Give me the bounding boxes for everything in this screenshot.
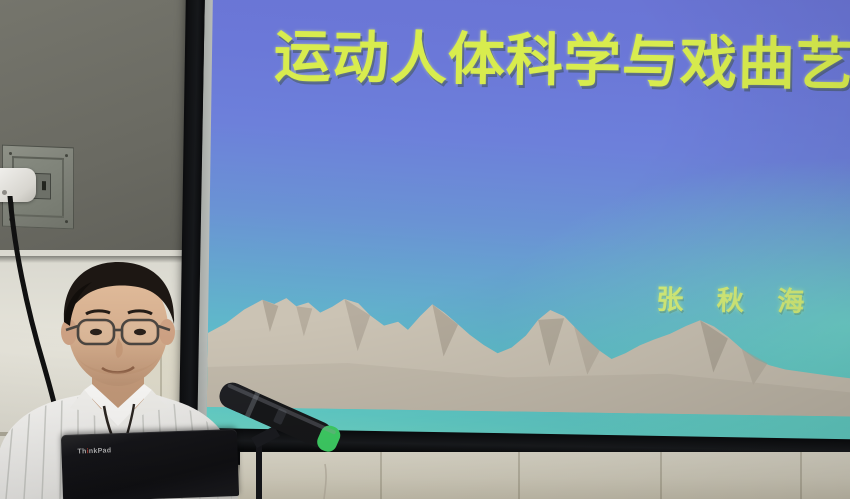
outlet-screw <box>9 152 12 155</box>
plug-screw <box>2 190 7 195</box>
wall-below-screen-seam <box>800 452 802 499</box>
slide-presenter-name: 张 秋 海 <box>656 278 816 319</box>
wall-below-screen-seam <box>518 452 520 499</box>
laptop-logo: ThinkPad <box>77 447 111 455</box>
wall-below-screen-seam <box>660 452 662 499</box>
lecture-photo-scene: 运动人体科学与戏曲艺术 张 秋 海 <box>0 0 850 499</box>
laptop[interactable]: ThinkPad <box>61 429 239 499</box>
outlet-hole <box>42 181 46 190</box>
slide-title: 运动人体科学与戏曲艺术 <box>273 11 850 102</box>
presenter-eye <box>134 329 146 335</box>
presenter-eye <box>90 329 102 335</box>
outlet-screw <box>65 154 68 157</box>
